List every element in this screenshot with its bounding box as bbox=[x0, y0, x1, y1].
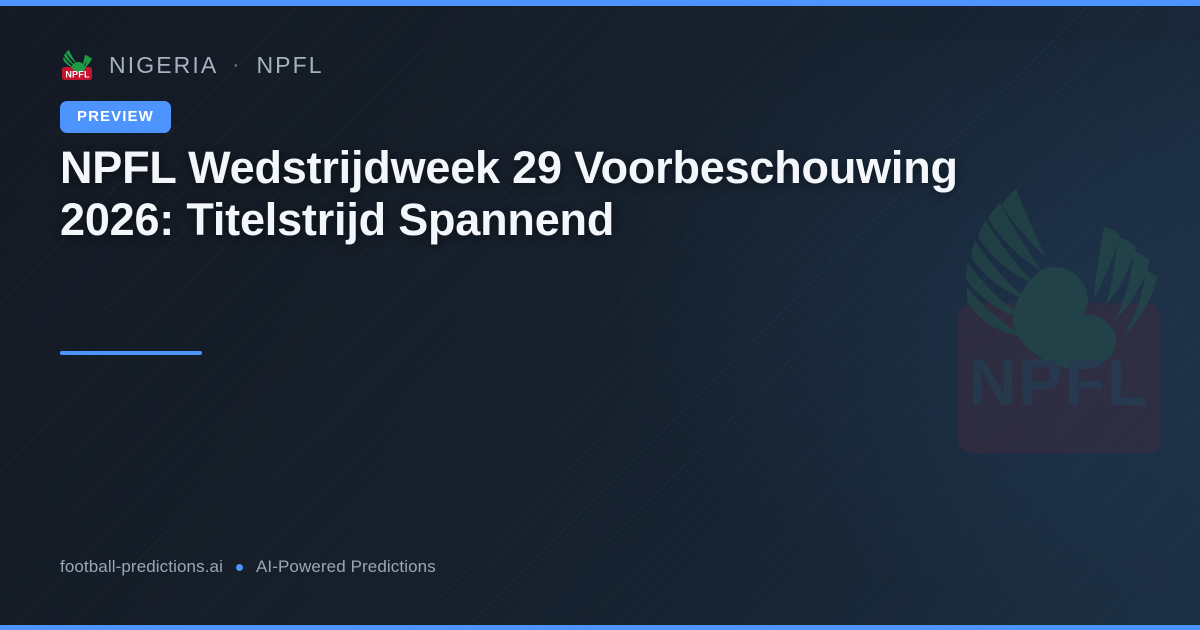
footer-tagline: AI-Powered Predictions bbox=[256, 557, 436, 577]
country-label: NIGERIA bbox=[109, 52, 217, 78]
page-title: NPFL Wedstrijdweek 29 Voorbeschouwing 20… bbox=[60, 142, 960, 246]
npfl-logo-icon: NPFL bbox=[60, 47, 96, 83]
npfl-watermark-logo: NPFL bbox=[958, 175, 1160, 453]
footer-separator-dot bbox=[236, 564, 243, 571]
site-name: football-predictions.ai bbox=[60, 557, 223, 577]
status-badge: PREVIEW bbox=[60, 101, 171, 133]
league-breadcrumb: NIGERIA · NPFL bbox=[109, 52, 324, 79]
bottom-accent-bar bbox=[0, 625, 1200, 630]
top-accent-bar bbox=[0, 0, 1200, 6]
league-header-row: NPFL NIGERIA · NPFL bbox=[60, 47, 324, 83]
title-underline-rule bbox=[60, 351, 202, 355]
svg-text:NPFL: NPFL bbox=[969, 345, 1149, 419]
footer: football-predictions.ai AI-Powered Predi… bbox=[60, 557, 436, 577]
svg-text:NPFL: NPFL bbox=[65, 69, 90, 79]
league-label: NPFL bbox=[256, 52, 323, 78]
breadcrumb-separator: · bbox=[233, 55, 241, 77]
preview-card: NPFL NPFL NIGERIA bbox=[0, 0, 1200, 630]
